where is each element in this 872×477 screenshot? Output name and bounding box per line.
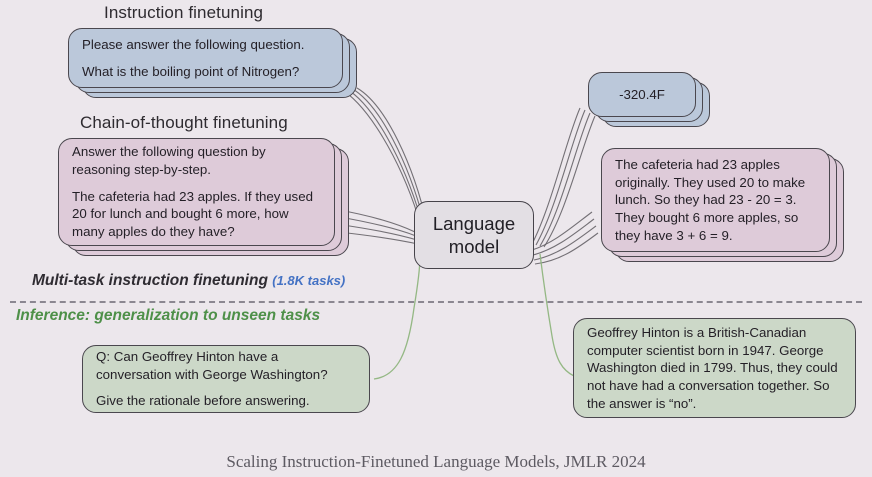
wire-model-to-inference-answer	[540, 254, 574, 376]
cot-answer-line-1: The cafeteria had 23 apples originally. …	[615, 156, 816, 244]
train-inference-divider	[10, 301, 862, 303]
multitask-finetuning-text: Multi-task instruction finetuning	[32, 272, 268, 289]
language-model-label: Languagemodel	[433, 212, 515, 258]
cot-answer-text: The cafeteria had 23 apples originally. …	[601, 148, 830, 252]
cot-prompt-line-1: Answer the following question by reasoni…	[72, 143, 321, 178]
caption-chain-of-thought-finetuning: Chain-of-thought finetuning	[80, 113, 288, 133]
language-model-line-1: Language	[433, 213, 515, 234]
card-stack-instruction-answer[interactable]: -320.4F	[588, 72, 713, 128]
card-stack-cot-answer[interactable]: The cafeteria had 23 apples originally. …	[601, 148, 851, 266]
card-stack-cot-prompt[interactable]: Answer the following question by reasoni…	[58, 138, 358, 258]
inference-prompt-line-1: Q: Can Geoffrey Hinton have a conversati…	[96, 348, 356, 383]
cot-prompt-text: Answer the following question by reasoni…	[58, 138, 335, 246]
language-model-box[interactable]: Languagemodel	[414, 201, 534, 269]
instruction-prompt-line-2: What is the boiling point of Nitrogen?	[82, 63, 329, 81]
language-model-line-2: model	[449, 236, 499, 257]
instruction-answer-text: -320.4F	[588, 72, 696, 117]
instruction-prompt-text: Please answer the following question. Wh…	[68, 28, 343, 88]
inference-prompt-line-2: Give the rationale before answering.	[96, 392, 356, 410]
instruction-answer-line-1: -320.4F	[619, 86, 665, 104]
card-inference-answer[interactable]: Geoffrey Hinton is a British-Canadian co…	[573, 318, 858, 418]
inference-answer-text: Geoffrey Hinton is a British-Canadian co…	[573, 318, 856, 418]
diagram-canvas: Instruction finetuning Chain-of-thought …	[0, 0, 872, 477]
card-inference-prompt[interactable]: Q: Can Geoffrey Hinton have a conversati…	[82, 345, 372, 413]
instruction-prompt-line-1: Please answer the following question.	[82, 36, 329, 54]
wires-model-to-instruction-answer	[532, 108, 595, 247]
wires-model-to-cot-answer	[532, 212, 598, 264]
inference-answer-line-1: Geoffrey Hinton is a British-Canadian co…	[587, 324, 842, 412]
inference-prompt-text: Q: Can Geoffrey Hinton have a conversati…	[82, 345, 370, 413]
card-stack-instruction-prompt[interactable]: Please answer the following question. Wh…	[68, 28, 358, 98]
inference-label: Inference: generalization to unseen task…	[16, 307, 320, 325]
multitask-tasks-count: (1.8K tasks)	[272, 273, 345, 288]
caption-instruction-finetuning: Instruction finetuning	[104, 3, 263, 23]
footer-citation: Scaling Instruction-Finetuned Language M…	[0, 452, 872, 472]
multitask-finetuning-label: Multi-task instruction finetuning (1.8K …	[32, 272, 345, 290]
wire-inference-prompt-to-model	[374, 256, 420, 379]
cot-prompt-line-2: The cafeteria had 23 apples. If they use…	[72, 188, 321, 241]
